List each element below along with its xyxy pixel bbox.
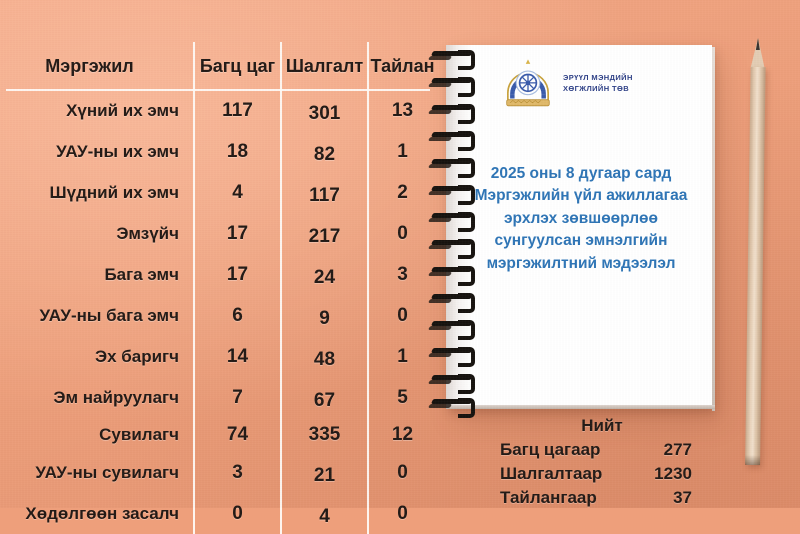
totals-value-bagts-tsag: 277 (622, 438, 692, 462)
column-header-shalgalt: Шалгалт (281, 42, 368, 90)
cell-bagts-tsag: 7 (194, 377, 281, 418)
pencil-graphite-tip (755, 38, 759, 50)
logo-line-1: ЭРҮҮЛ МЭНДИЙН (563, 73, 633, 84)
table-row: Эмзүйч 17 217 0 (0, 213, 436, 254)
totals-label-shalgalt: Шалгалтаар (500, 462, 622, 486)
cell-tailan: 3 (368, 254, 436, 295)
desk-scene: Мэргэжил Багц цаг Шалгалт Тайлан Хүний и… (0, 0, 800, 508)
cell-profession: УАУ-ны их эмч (0, 131, 194, 172)
totals-row: Шалгалтаар 1230 (500, 462, 730, 486)
cell-profession: Хөдөлгөөн засалч (0, 493, 194, 534)
cell-bagts-tsag: 74 (194, 418, 281, 452)
totals-row: Багц цагаар 277 (500, 438, 730, 462)
statistics-table: Мэргэжил Багц цаг Шалгалт Тайлан Хүний и… (0, 42, 436, 534)
totals-value-shalgalt: 1230 (622, 462, 692, 486)
table-row: Шүдний их эмч 4 117 2 (0, 172, 436, 213)
logo-line-2: ХӨГЖЛИЙН ТӨВ (563, 84, 633, 95)
cell-tailan: 1 (368, 131, 436, 172)
cell-shalgalt: 335 (281, 418, 368, 452)
cell-shalgalt: 9 (281, 295, 368, 336)
table-body: Хүний их эмч 117 301 13 УАУ-ны их эмч 18… (0, 90, 436, 534)
table-header-row: Мэргэжил Багц цаг Шалгалт Тайлан (0, 42, 436, 90)
cell-profession: Эм найруулагч (0, 377, 194, 418)
column-header-tailan: Тайлан (368, 42, 436, 90)
table-row: УАУ-ны сувилагч 3 21 0 (0, 452, 436, 493)
cell-bagts-tsag: 17 (194, 213, 281, 254)
cell-bagts-tsag: 6 (194, 295, 281, 336)
cell-bagts-tsag: 4 (194, 172, 281, 213)
cell-shalgalt: 82 (281, 131, 368, 172)
table-header-rule (6, 89, 430, 91)
cell-bagts-tsag: 17 (194, 254, 281, 295)
cell-profession: Эмзүйч (0, 213, 194, 254)
column-header-bagts-tsag: Багц цаг (194, 42, 281, 90)
cell-shalgalt: 21 (281, 452, 368, 493)
cell-shalgalt: 24 (281, 254, 368, 295)
cell-bagts-tsag: 18 (194, 131, 281, 172)
totals-title: Нийт (500, 414, 730, 438)
table-row: Хүний их эмч 117 301 13 (0, 90, 436, 131)
cell-shalgalt: 117 (281, 172, 368, 213)
cell-profession: Шүдний их эмч (0, 172, 194, 213)
table-row: Сувилагч 74 335 12 (0, 418, 436, 452)
cell-profession: Хүний их эмч (0, 90, 194, 131)
notebook-headline: 2025 оны 8 дугаар сард Мэргэжлийн үйл аж… (462, 163, 700, 275)
table-head: Мэргэжил Багц цаг Шалгалт Тайлан (0, 42, 436, 90)
table-row: УАУ-ны их эмч 18 82 1 (0, 131, 436, 172)
cell-tailan: 0 (368, 452, 436, 493)
cell-bagts-tsag: 0 (194, 493, 281, 534)
table-row: Эм найруулагч 7 67 5 (0, 377, 436, 418)
cell-tailan: 12 (368, 418, 436, 452)
totals-label-bagts-tsag: Багц цагаар (500, 438, 622, 462)
cell-profession: Эх баригч (0, 336, 194, 377)
health-development-center-emblem (500, 56, 556, 112)
totals-label-tailan: Тайлангаар (500, 486, 622, 510)
cell-profession: УАУ-ны бага эмч (0, 295, 194, 336)
cell-tailan: 13 (368, 90, 436, 131)
cell-shalgalt: 301 (281, 90, 368, 131)
logo-text-block: ЭРҮҮЛ МЭНДИЙН ХӨГЖЛИЙН ТӨВ (563, 73, 633, 95)
cell-shalgalt: 217 (281, 213, 368, 254)
totals-row: Тайлангаар 37 (500, 486, 730, 510)
cell-tailan: 0 (368, 295, 436, 336)
cell-tailan: 0 (368, 213, 436, 254)
table-row: Хөдөлгөөн засалч 0 4 0 (0, 493, 436, 534)
cell-bagts-tsag: 117 (194, 90, 281, 131)
pencil-body (745, 67, 766, 465)
cell-profession: УАУ-ны сувилагч (0, 452, 194, 493)
cell-bagts-tsag: 3 (194, 452, 281, 493)
cell-bagts-tsag: 14 (194, 336, 281, 377)
totals-summary: Нийт Багц цагаар 277 Шалгалтаар 1230 Тай… (500, 414, 730, 511)
spiral-notebook: ЭРҮҮЛ МЭНДИЙН ХӨГЖЛИЙН ТӨВ 2025 оны 8 ду… (446, 45, 712, 408)
totals-value-tailan: 37 (622, 486, 692, 510)
column-header-profession: Мэргэжил (0, 42, 194, 90)
cell-tailan: 1 (368, 336, 436, 377)
cell-tailan: 2 (368, 172, 436, 213)
table-row: Бага эмч 17 24 3 (0, 254, 436, 295)
profession-statistics-table: Мэргэжил Багц цаг Шалгалт Тайлан Хүний и… (0, 42, 436, 492)
cell-profession: Сувилагч (0, 418, 194, 452)
cell-shalgalt: 4 (281, 493, 368, 534)
organization-logo: ЭРҮҮЛ МЭНДИЙН ХӨГЖЛИЙН ТӨВ (500, 56, 700, 112)
cell-tailan: 5 (368, 377, 436, 418)
cell-shalgalt: 67 (281, 377, 368, 418)
table-row: УАУ-ны бага эмч 6 9 0 (0, 295, 436, 336)
cell-tailan: 0 (368, 493, 436, 534)
cell-profession: Бага эмч (0, 254, 194, 295)
pencil (745, 38, 766, 470)
notebook-bottom-edge (446, 405, 715, 409)
table-row: Эх баригч 14 48 1 (0, 336, 436, 377)
cell-shalgalt: 48 (281, 336, 368, 377)
